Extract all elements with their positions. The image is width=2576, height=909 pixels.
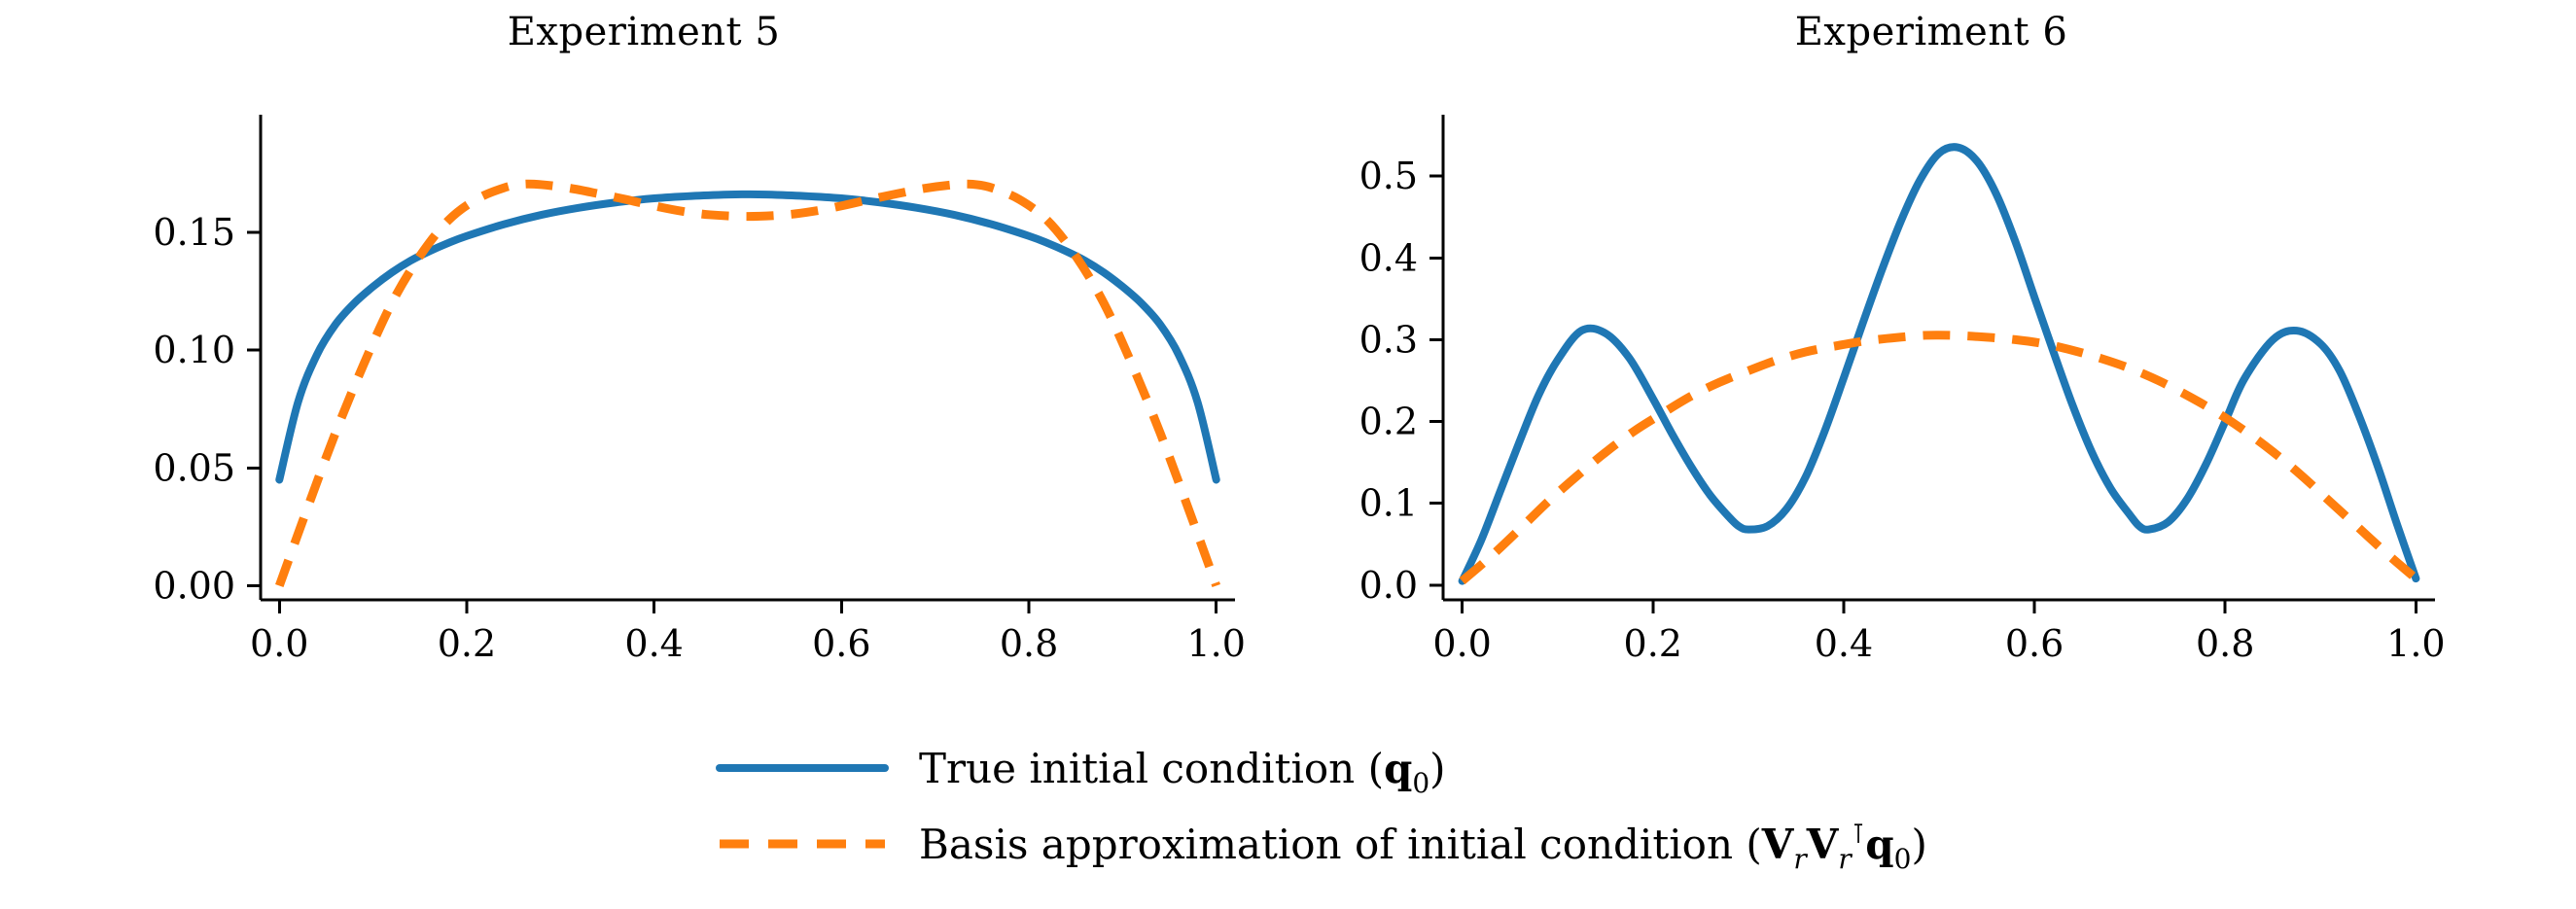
panel-experiment-6: Experiment 6 0.00.10.20.30.40.50.00.20.4… xyxy=(1288,0,2575,700)
x-tick-label: 0.8 xyxy=(1000,622,1058,665)
plot-area-experiment-6: 0.00.10.20.30.40.50.00.20.40.60.81.0 xyxy=(1288,0,2575,700)
x-tick-label: 0.4 xyxy=(624,622,683,665)
y-tick-label: 0.00 xyxy=(153,564,235,607)
plot-area-experiment-5: 0.000.050.100.150.00.20.40.60.81.0 xyxy=(0,0,1288,700)
series-true-initial-condition xyxy=(1463,147,2417,580)
x-tick-label: 0.0 xyxy=(1432,622,1491,665)
chart-legend: True initial condition (q0)Basis approxi… xyxy=(0,698,2576,907)
y-tick-label: 0.3 xyxy=(1359,318,1418,361)
legend-label-basis-approximation: Basis approximation of initial condition… xyxy=(919,818,1927,875)
y-tick-label: 0.2 xyxy=(1359,401,1418,443)
y-tick-label: 0.10 xyxy=(153,329,235,371)
y-tick-label: 0.5 xyxy=(1359,155,1418,197)
x-tick-label: 0.4 xyxy=(1815,622,1873,665)
legend-label-true-initial-condition: True initial condition (q0) xyxy=(919,745,1446,799)
x-tick-label: 1.0 xyxy=(2386,622,2445,665)
x-tick-label: 0.6 xyxy=(812,622,870,665)
y-tick-label: 0.4 xyxy=(1359,236,1418,279)
x-tick-label: 0.0 xyxy=(250,622,308,665)
y-tick-label: 0.0 xyxy=(1359,564,1418,607)
panel-experiment-5: Experiment 5 0.000.050.100.150.00.20.40.… xyxy=(0,0,1288,700)
y-tick-label: 0.05 xyxy=(153,446,235,489)
x-tick-label: 0.2 xyxy=(1624,622,1682,665)
x-tick-label: 1.0 xyxy=(1187,622,1246,665)
x-tick-label: 0.2 xyxy=(438,622,496,665)
figure-root: Experiment 5 0.000.050.100.150.00.20.40.… xyxy=(0,0,2576,909)
x-tick-label: 0.8 xyxy=(2196,622,2254,665)
series-basis-approximation xyxy=(1463,335,2417,581)
x-tick-label: 0.6 xyxy=(2005,622,2064,665)
y-tick-label: 0.1 xyxy=(1359,482,1418,525)
series-true-initial-condition xyxy=(279,194,1216,480)
panels-container: Experiment 5 0.000.050.100.150.00.20.40.… xyxy=(0,0,2576,700)
series-basis-approximation xyxy=(279,184,1216,585)
legend-svg: True initial condition (q0)Basis approxi… xyxy=(0,698,2576,907)
y-tick-label: 0.15 xyxy=(153,211,235,254)
